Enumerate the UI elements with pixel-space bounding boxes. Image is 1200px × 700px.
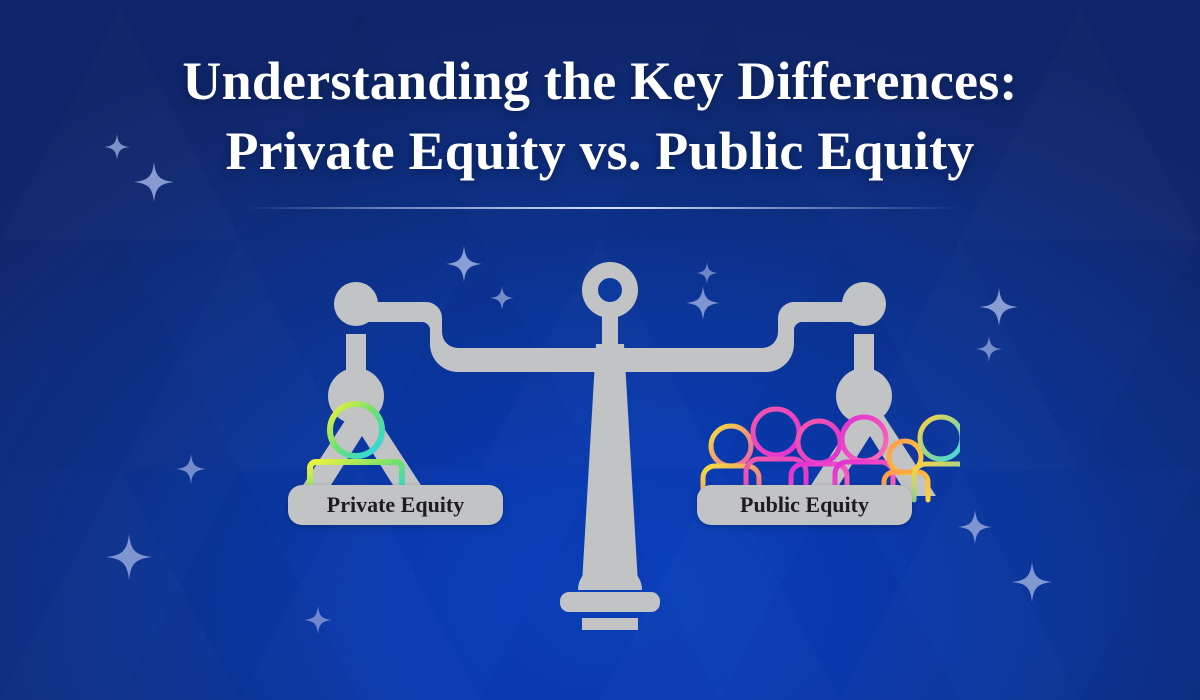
- sparkle-icon: [980, 288, 1018, 326]
- page-title: Understanding the Key Differences: Priva…: [0, 46, 1200, 186]
- title-divider: [245, 207, 960, 209]
- sparkle-icon: [958, 510, 992, 544]
- sparkle-icon: [134, 162, 174, 202]
- infographic-canvas: Understanding the Key Differences: Priva…: [0, 0, 1200, 700]
- balance-scale-graphic: [260, 250, 960, 630]
- title-line-2: Private Equity vs. Public Equity: [0, 116, 1200, 186]
- title-line-1: Understanding the Key Differences:: [0, 46, 1200, 116]
- scale-frame: [356, 262, 864, 630]
- sparkle-icon: [976, 336, 1002, 362]
- pan-label-private-equity[interactable]: Private Equity: [288, 485, 503, 525]
- sparkle-icon: [106, 534, 152, 580]
- sparkle-icon: [1012, 562, 1052, 602]
- sparkle-icon: [104, 134, 130, 160]
- sparkle-icon: [176, 454, 206, 484]
- pan-label-public-equity[interactable]: Public Equity: [697, 485, 912, 525]
